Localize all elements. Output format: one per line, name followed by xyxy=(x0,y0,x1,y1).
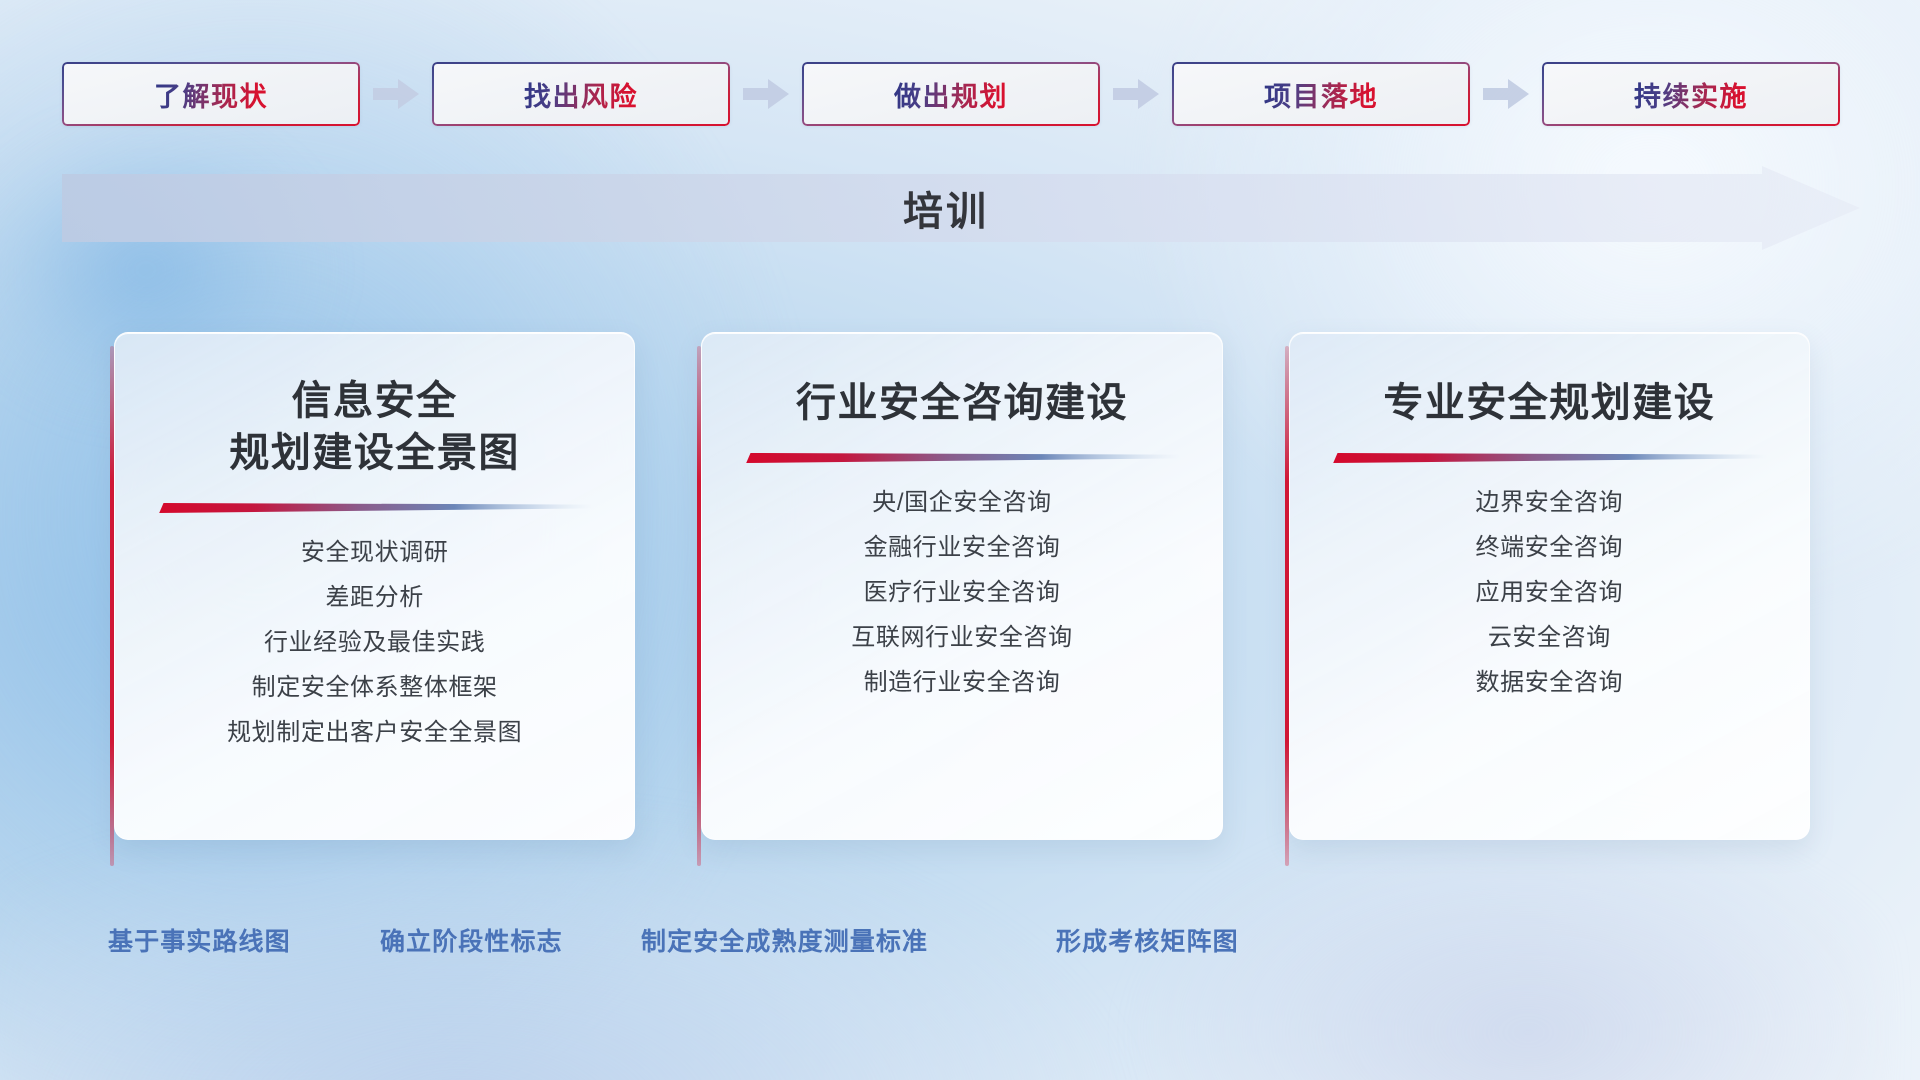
list-item: 差距分析 xyxy=(325,576,423,621)
card-body: 专业安全规划建设 xyxy=(1289,332,1810,840)
list-item: 医疗行业安全咨询 xyxy=(864,571,1061,616)
card-title: 信息安全 规划建设全景图 xyxy=(115,375,634,479)
process-step-2[interactable]: 找出风险 xyxy=(432,62,730,126)
process-step-label: 找出风险 xyxy=(524,75,638,114)
training-banner-label: 培训 xyxy=(62,166,1860,250)
service-card-row: 信息安全 规划建设全景图 xyxy=(110,332,1810,872)
list-item: 互联网行业安全咨询 xyxy=(851,616,1072,661)
gradient-divider-icon xyxy=(1331,449,1767,467)
footer-label-row: 基于事实路线图 确立阶段性标志 制定安全成熟度测量标准 形成考核矩阵图 xyxy=(0,912,1920,968)
process-step-row: 了解现状 找出风险 做出规划 项目落地 xyxy=(62,62,1858,126)
arrow-right-icon xyxy=(730,62,802,126)
process-step-5[interactable]: 持续实施 xyxy=(1542,62,1840,126)
process-step-label: 项目落地 xyxy=(1264,75,1378,114)
process-step-1[interactable]: 了解现状 xyxy=(62,62,360,126)
list-item: 边界安全咨询 xyxy=(1476,481,1624,526)
training-banner: 培训 xyxy=(62,166,1860,250)
list-item: 金融行业安全咨询 xyxy=(864,526,1061,571)
footer-label: 基于事实路线图 xyxy=(108,912,291,968)
process-step-label: 持续实施 xyxy=(1634,75,1748,114)
list-item: 云安全咨询 xyxy=(1488,616,1611,661)
footer-label: 制定安全成熟度测量标准 xyxy=(641,912,928,968)
service-card[interactable]: 信息安全 规划建设全景图 xyxy=(110,332,635,872)
process-step-4[interactable]: 项目落地 xyxy=(1172,62,1470,126)
list-item: 终端安全咨询 xyxy=(1476,526,1624,571)
list-item: 安全现状调研 xyxy=(301,531,449,576)
list-item: 制定安全体系整体框架 xyxy=(252,666,498,711)
list-item: 央/国企安全咨询 xyxy=(872,481,1051,526)
slide-stage: 了解现状 找出风险 做出规划 项目落地 xyxy=(0,0,1920,1080)
arrow-right-icon xyxy=(1100,62,1172,126)
service-card[interactable]: 专业安全规划建设 xyxy=(1285,332,1810,872)
arrow-right-icon xyxy=(1470,62,1542,126)
list-item: 应用安全咨询 xyxy=(1476,571,1624,616)
service-card[interactable]: 行业安全咨询建设 xyxy=(697,332,1222,872)
list-item: 行业经验及最佳实践 xyxy=(264,621,485,666)
card-title: 专业安全规划建设 xyxy=(1290,377,1809,429)
footer-label: 形成考核矩阵图 xyxy=(1056,912,1239,968)
card-body: 信息安全 规划建设全景图 xyxy=(114,332,635,840)
process-step-3[interactable]: 做出规划 xyxy=(802,62,1100,126)
process-step-label: 了解现状 xyxy=(154,75,268,114)
list-item: 制造行业安全咨询 xyxy=(864,661,1061,706)
card-body: 行业安全咨询建设 xyxy=(701,332,1222,840)
card-title: 行业安全咨询建设 xyxy=(702,377,1221,429)
process-step-label: 做出规划 xyxy=(894,75,1008,114)
card-item-list: 安全现状调研 差距分析 行业经验及最佳实践 制定安全体系整体框架 规划制定出客户… xyxy=(115,531,634,756)
gradient-divider-icon xyxy=(157,499,593,517)
arrow-right-icon xyxy=(360,62,432,126)
card-item-list: 边界安全咨询 终端安全咨询 应用安全咨询 云安全咨询 数据安全咨询 xyxy=(1290,481,1809,706)
footer-label: 确立阶段性标志 xyxy=(380,912,563,968)
card-item-list: 央/国企安全咨询 金融行业安全咨询 医疗行业安全咨询 互联网行业安全咨询 制造行… xyxy=(702,481,1221,706)
list-item: 数据安全咨询 xyxy=(1476,661,1624,706)
list-item: 规划制定出客户安全全景图 xyxy=(227,711,522,756)
gradient-divider-icon xyxy=(744,449,1180,467)
